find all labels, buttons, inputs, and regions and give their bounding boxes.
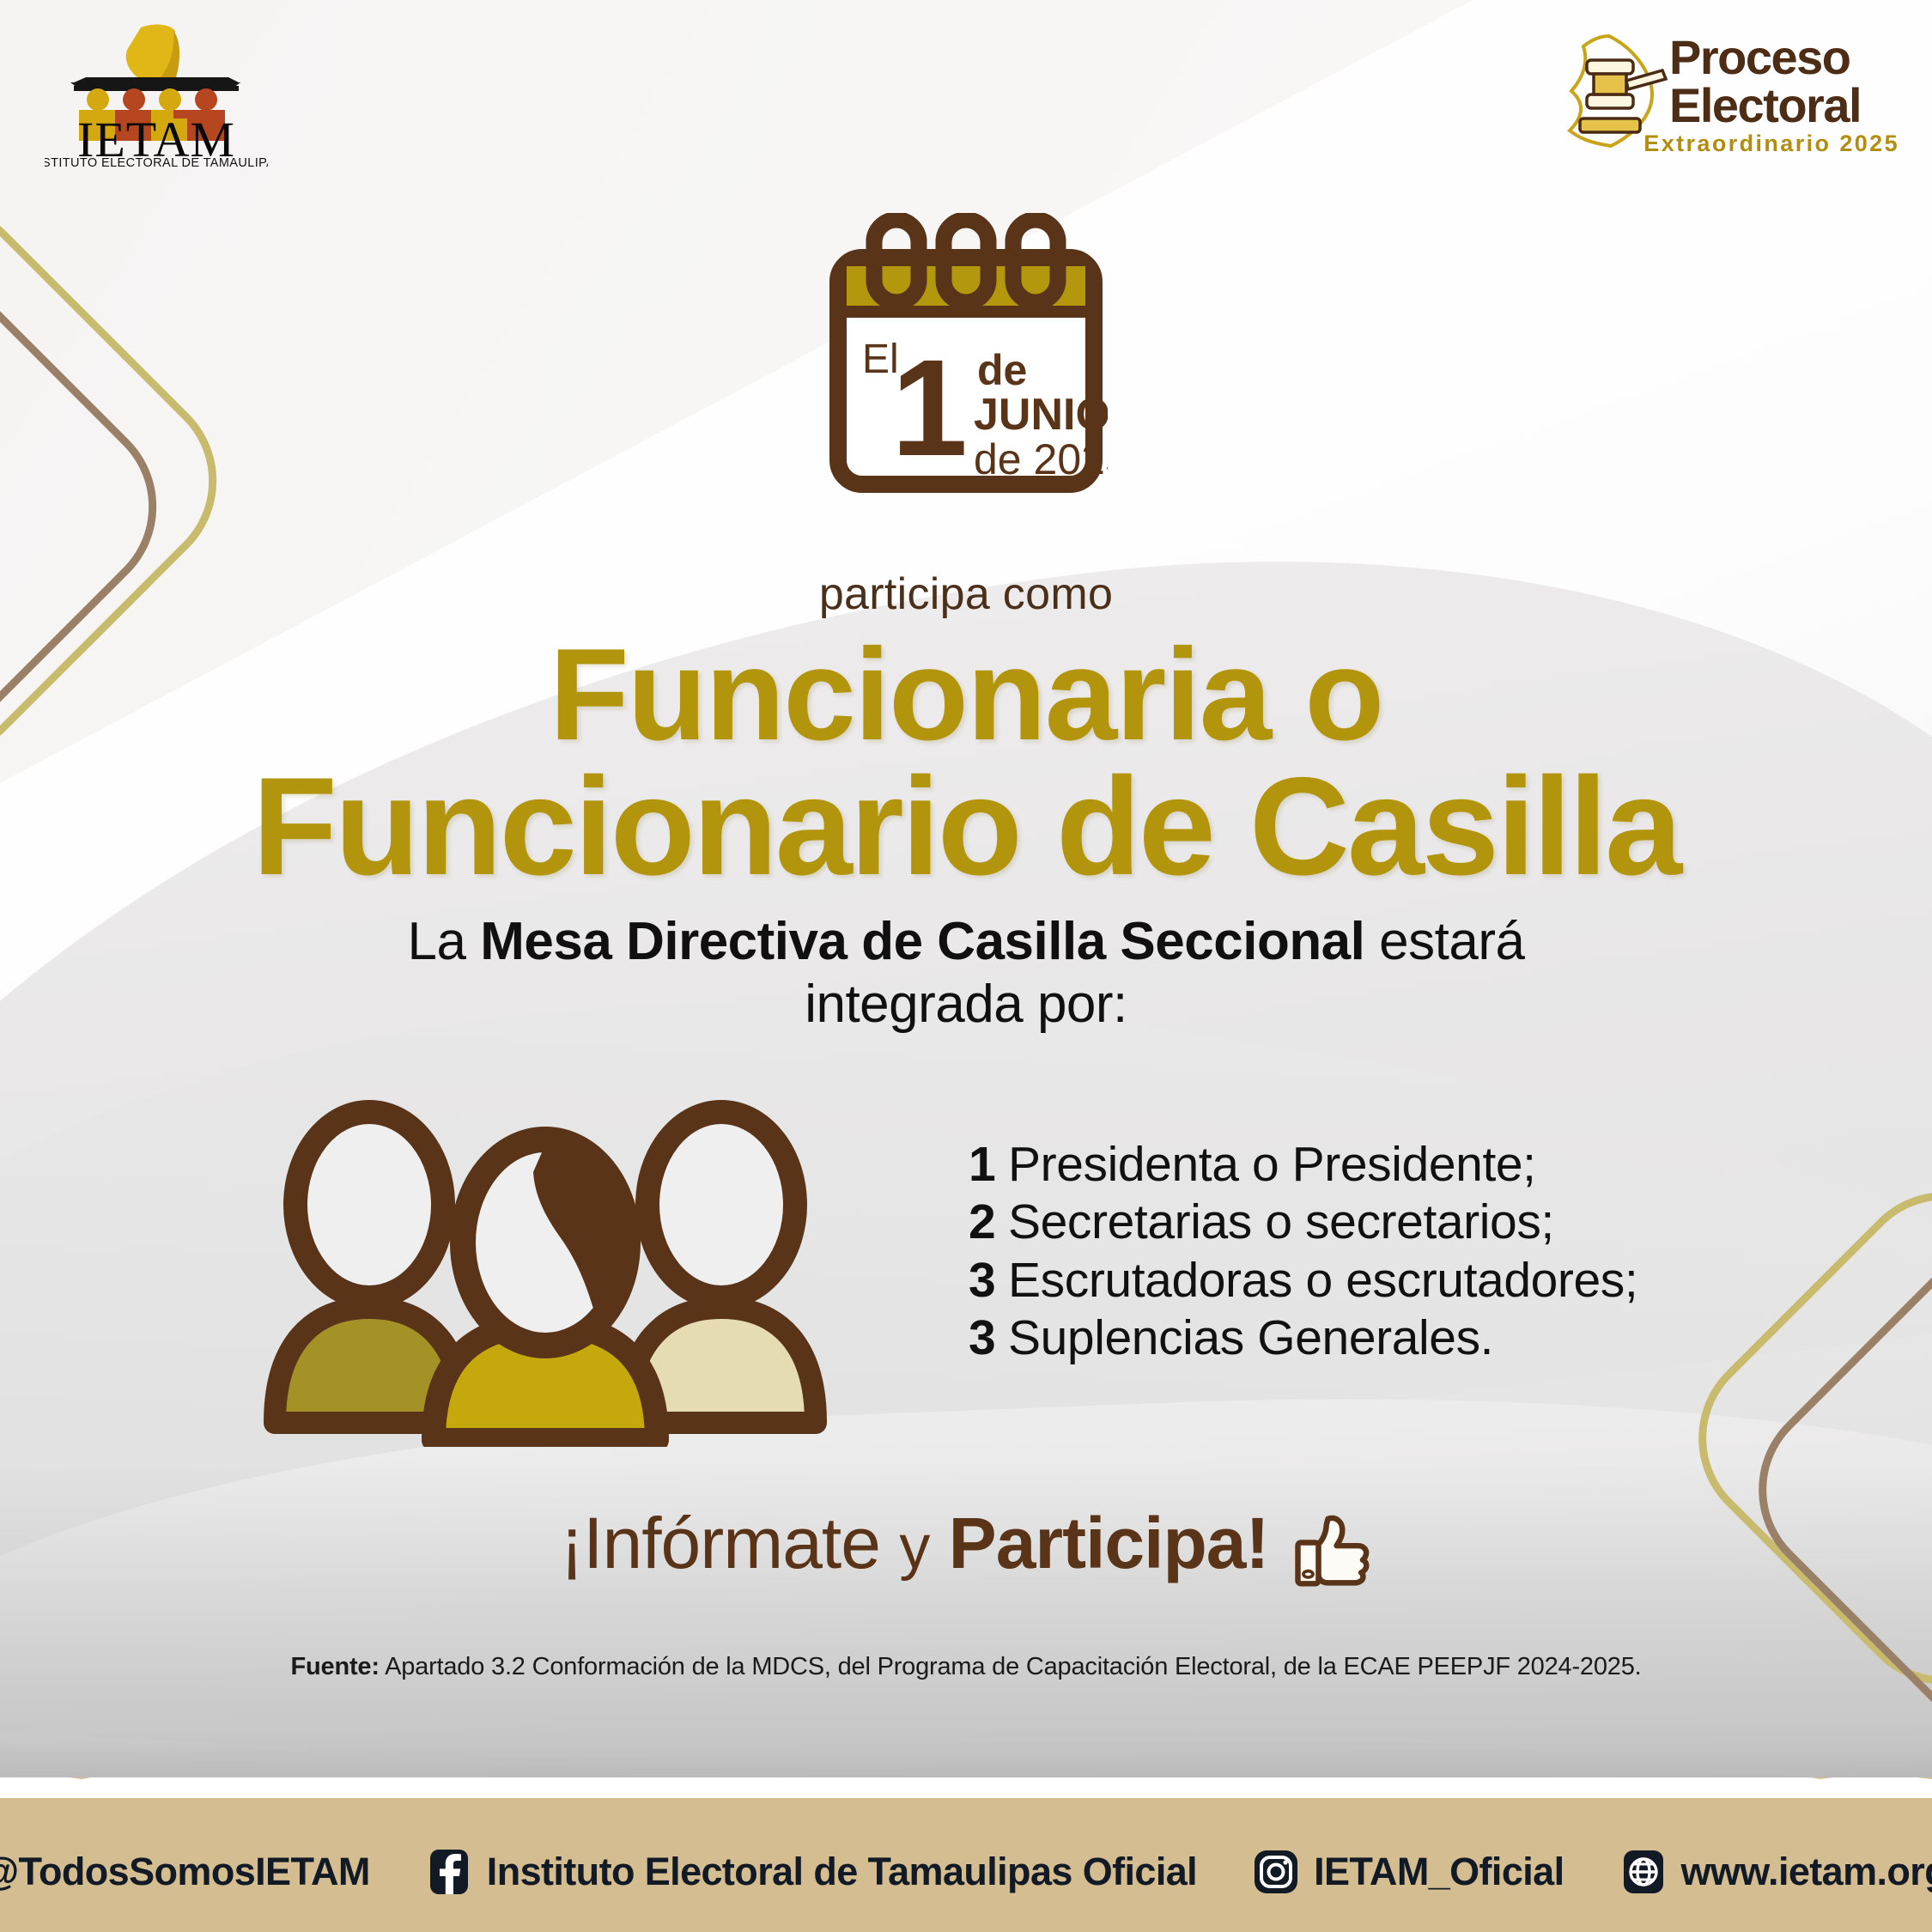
website-url: www.ietam.org.mx bbox=[1681, 1850, 1932, 1894]
proceso-electoral-logo: Proceso Electoral Extraordinario 2025 bbox=[1532, 21, 1901, 162]
title-line-2: Funcionario de Casilla bbox=[0, 759, 1932, 896]
website-link[interactable]: www.ietam.org.mx bbox=[1619, 1848, 1932, 1896]
social-link-facebook[interactable]: Instituto Electoral de Tamaulipas Oficia… bbox=[425, 1848, 1197, 1896]
call-to-action: ¡Infórmate y Participa! bbox=[0, 1507, 1932, 1598]
subtitle-emphasis: Mesa Directiva de Casilla Seccional bbox=[480, 912, 1364, 971]
poster-canvas: IETAM INSTITUTO ELECTORAL DE TAMAULIPAS … bbox=[0, 0, 1932, 1932]
cta-participa: Participa! bbox=[949, 1503, 1269, 1583]
calendar-month: JUNIO bbox=[974, 390, 1108, 440]
roles-list: 1 Presidenta o Presidente; 2 Secretarias… bbox=[969, 1136, 1637, 1367]
subtitle-post: estará bbox=[1364, 912, 1524, 971]
role-count: 2 bbox=[969, 1194, 1008, 1251]
facebook-page-name: Instituto Electoral de Tamaulipas Oficia… bbox=[487, 1850, 1197, 1894]
page-title: Funcionaria o Funcionario de Casilla bbox=[0, 631, 1932, 896]
title-line-1: Funcionaria o bbox=[0, 631, 1932, 759]
calendar-year: de 2025 bbox=[974, 435, 1108, 483]
subtitle-pre: La bbox=[408, 912, 481, 971]
social-links-row: @TodosSomosIETAM Instituto Electoral de … bbox=[0, 1812, 1932, 1932]
role-label: Secretarias o secretarios; bbox=[1008, 1194, 1554, 1251]
proceso-word: Proceso bbox=[1669, 30, 1850, 84]
x-handle: @TodosSomosIETAM bbox=[0, 1850, 370, 1894]
cta-informate: ¡Infórmate bbox=[560, 1503, 880, 1583]
footer-bar: @TodosSomosIETAM Instituto Electoral de … bbox=[0, 1777, 1932, 1932]
subtitle-line-2: integrada por: bbox=[0, 973, 1932, 1036]
calendar-date-badge: El 1 de JUNIO de 2025 bbox=[0, 213, 1932, 496]
instagram-icon bbox=[1252, 1848, 1300, 1896]
role-count: 3 bbox=[969, 1252, 1008, 1309]
role-count: 1 bbox=[969, 1136, 1008, 1194]
calendar-icon: El 1 de JUNIO de 2025 bbox=[824, 213, 1108, 496]
list-item: 2 Secretarias o secretarios; bbox=[969, 1194, 1637, 1251]
electoral-word: Electoral bbox=[1669, 78, 1861, 132]
social-link-instagram[interactable]: IETAM_Oficial bbox=[1252, 1848, 1564, 1896]
list-item: 3 Escrutadoras o escrutadores; bbox=[969, 1252, 1637, 1309]
list-item: 1 Presidenta o Presidente; bbox=[969, 1136, 1637, 1194]
role-label: Presidenta o Presidente; bbox=[1008, 1136, 1536, 1194]
thumbs-up-icon bbox=[1293, 1508, 1372, 1598]
source-text: Apartado 3.2 Conformación de la MDCS, de… bbox=[380, 1653, 1642, 1680]
role-label: Suplencias Generales. bbox=[1008, 1309, 1493, 1367]
cta-conjunction: y bbox=[899, 1513, 929, 1582]
people-group-icon bbox=[245, 1078, 846, 1447]
source-note: Fuente: Apartado 3.2 Conformación de la … bbox=[0, 1653, 1932, 1681]
role-label: Escrutadoras o escrutadores; bbox=[1008, 1252, 1637, 1309]
eyebrow-text: participa como bbox=[0, 568, 1932, 620]
source-label: Fuente: bbox=[290, 1653, 379, 1680]
ietam-full-name: INSTITUTO ELECTORAL DE TAMAULIPAS bbox=[45, 156, 268, 167]
instagram-handle: IETAM_Oficial bbox=[1314, 1850, 1564, 1894]
subtitle: La Mesa Directiva de Casilla Seccional e… bbox=[0, 910, 1932, 1036]
calendar-day: 1 bbox=[891, 331, 968, 484]
globe-icon bbox=[1619, 1848, 1668, 1896]
person-center-icon bbox=[434, 1139, 657, 1440]
extraordinario-sub: Extraordinario 2025 bbox=[1643, 131, 1899, 156]
role-count: 3 bbox=[969, 1309, 1008, 1367]
list-item: 3 Suplencias Generales. bbox=[969, 1309, 1637, 1367]
ietam-logo: IETAM INSTITUTO ELECTORAL DE TAMAULIPAS bbox=[45, 21, 268, 167]
social-link-x[interactable]: @TodosSomosIETAM bbox=[0, 1848, 370, 1896]
facebook-icon bbox=[425, 1848, 473, 1896]
torn-paper-edge bbox=[0, 1777, 1932, 1798]
subtitle-line-1: La Mesa Directiva de Casilla Seccional e… bbox=[0, 910, 1932, 973]
calendar-de: de bbox=[977, 346, 1027, 394]
